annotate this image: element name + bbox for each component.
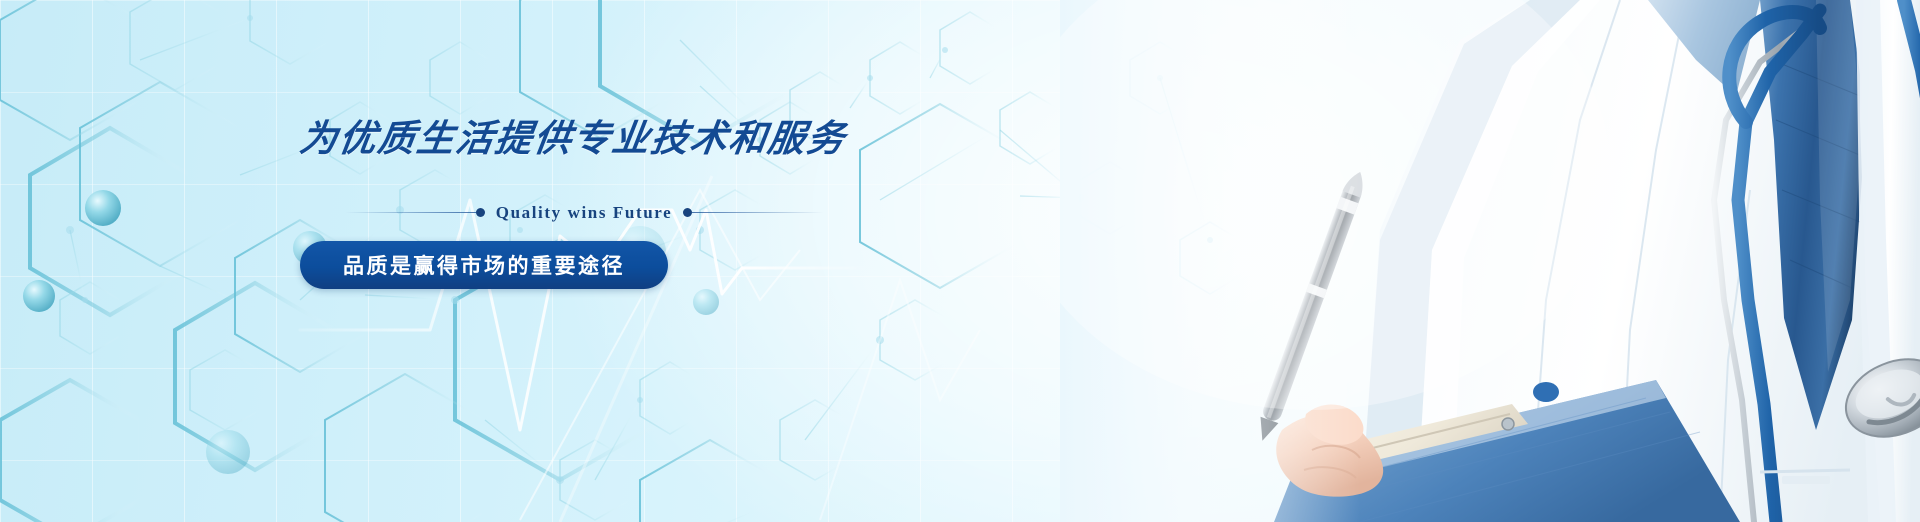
tagline-divider: Quality wins Future	[345, 203, 823, 223]
slogan-pill-label: 品质是赢得市场的重要途径	[343, 250, 625, 280]
doctor-photo	[1060, 0, 1920, 522]
divider-rule-right	[692, 212, 823, 213]
slogan-pill-button[interactable]: 品质是赢得市场的重要途径	[300, 241, 668, 289]
page-title: 为优质生活提供专业技术和服务	[297, 118, 823, 161]
banner-content: 为优质生活提供专业技术和服务 Quality wins Future 品质是赢得…	[300, 118, 820, 289]
divider-dot-left	[476, 208, 485, 217]
divider-rule-left	[345, 212, 476, 213]
hero-banner: 为优质生活提供专业技术和服务 Quality wins Future 品质是赢得…	[0, 0, 1920, 522]
tagline-english: Quality wins Future	[485, 203, 684, 223]
divider-dot-right	[683, 208, 692, 217]
